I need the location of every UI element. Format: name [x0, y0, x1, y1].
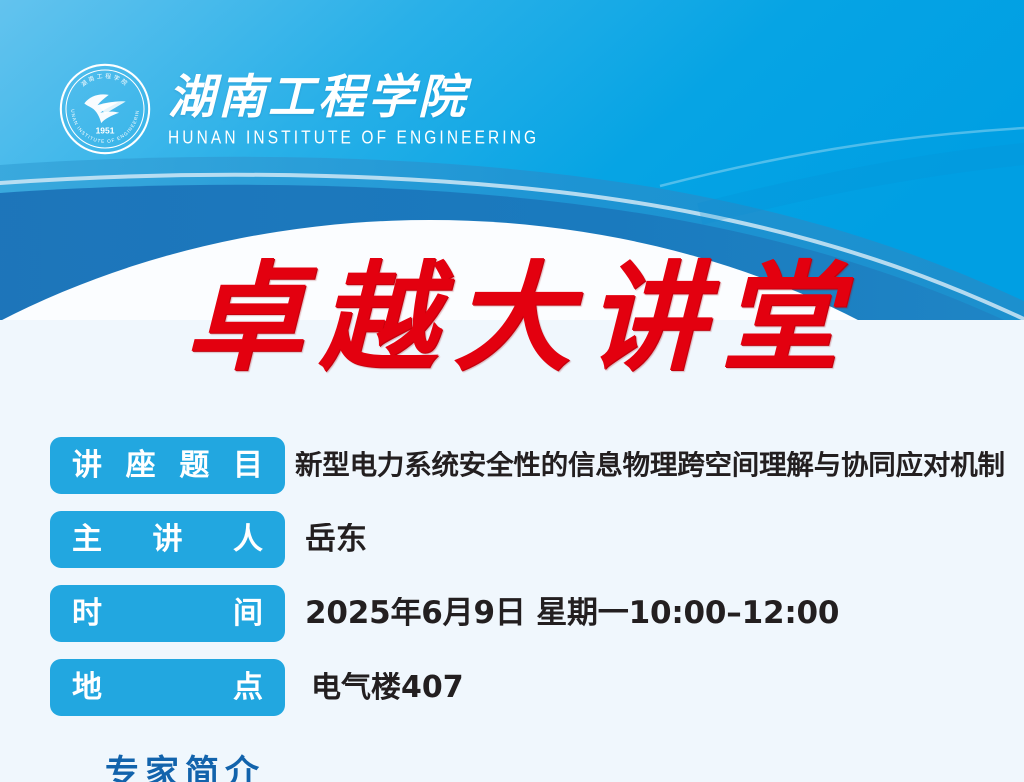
info-row-time: 时间 2025年6月9日 星期一10:00–12:00 [50, 585, 1010, 642]
info-row-speaker: 主讲人 岳东 [50, 511, 1010, 568]
seal-year: 1951 [96, 125, 115, 135]
value-speaker: 岳东 [285, 523, 1010, 556]
label-text: 时间 [72, 599, 263, 629]
lecture-info-list: 讲座题目 新型电力系统安全性的信息物理跨空间理解与协同应对机制 主讲人 岳东 时… [50, 437, 1010, 733]
section-heading-expert-profile: 专家简介 [105, 756, 265, 782]
university-seal-icon: 1951 HUNAN INSTITUTE OF ENGINEERING 湖南工程… [58, 62, 152, 156]
label-pill-lecture-title: 讲座题目 [50, 437, 285, 494]
label-text: 地点 [72, 673, 263, 703]
info-row-location: 地点 电气楼407 [50, 659, 1010, 716]
label-pill-location: 地点 [50, 659, 285, 716]
value-location: 电气楼407 [285, 672, 1010, 704]
label-pill-time: 时间 [50, 585, 285, 642]
poster-main-title: 卓越大讲堂 [0, 243, 1024, 393]
wordmark: 湖南工程学院 HUNAN INSTITUTE OF ENGINEERING [168, 74, 539, 146]
value-time: 2025年6月9日 星期一10:00–12:00 [285, 597, 1010, 630]
university-logo: 1951 HUNAN INSTITUTE OF ENGINEERING 湖南工程… [58, 62, 539, 156]
label-text: 讲座题目 [72, 451, 263, 481]
info-row-lecture-title: 讲座题目 新型电力系统安全性的信息物理跨空间理解与协同应对机制 [50, 437, 1010, 494]
label-pill-speaker: 主讲人 [50, 511, 285, 568]
label-text: 主讲人 [72, 525, 263, 555]
lecture-poster: 1951 HUNAN INSTITUTE OF ENGINEERING 湖南工程… [0, 0, 1024, 782]
university-name-cn: 湖南工程学院 [168, 74, 539, 123]
university-name-en: HUNAN INSTITUTE OF ENGINEERING [168, 128, 539, 149]
value-lecture-title: 新型电力系统安全性的信息物理跨空间理解与协同应对机制 [285, 451, 1010, 480]
